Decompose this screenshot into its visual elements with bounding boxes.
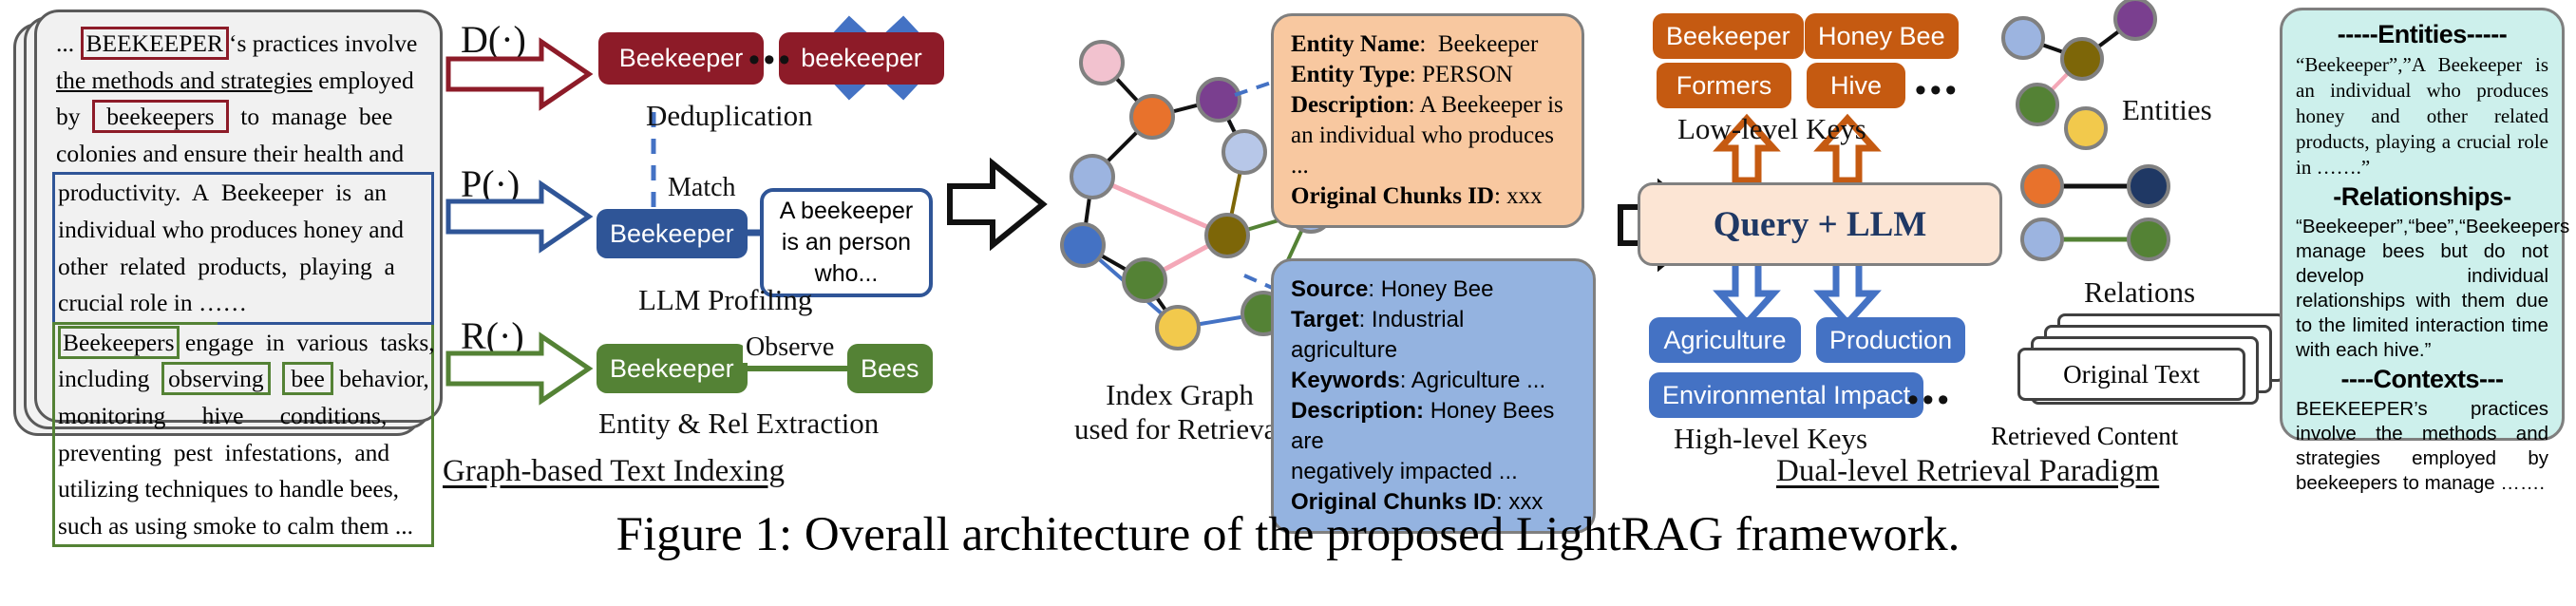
query-llm-box[interactable]: Query + LLM: [1638, 182, 2002, 266]
operator-label-dedup: D(·): [461, 17, 526, 62]
ellipsis-prefix: ...: [56, 29, 81, 57]
highlight-beekeepers-2: Beekeepers: [58, 326, 180, 359]
operator-label-extract: R(·): [461, 313, 524, 358]
low-level-key-0[interactable]: Beekeeper: [1653, 13, 1804, 59]
highlight-beekeepers: beekeepers: [92, 100, 228, 133]
high-level-key-1[interactable]: Production: [1816, 317, 1965, 363]
original-text-label: Original Text: [2063, 360, 2200, 389]
entities-section-body: “Beekeeper”,”A Beekeeper is an individua…: [2296, 52, 2548, 180]
node-beekeeper-profile[interactable]: Beekeeper: [597, 209, 748, 258]
dedup-ellipsis-overlay: •••: [748, 44, 794, 76]
highlight-observing: observing: [161, 362, 271, 395]
relationships-section-header: -Relationships-: [2296, 182, 2548, 212]
high-level-keys-ellipsis: •••: [1907, 384, 1953, 416]
source-chunk-stack: ... BEEKEEPER‘s practices involve the me…: [13, 9, 446, 442]
highlight-bee: bee: [282, 362, 332, 395]
section-label-graph-indexing: Graph-based Text Indexing: [443, 454, 785, 489]
stage-label-deduplication: Deduplication: [646, 99, 813, 133]
text-line-4: colonies and ensure their health and: [56, 136, 428, 173]
node-beekeeper-dedup[interactable]: Beekeeper: [598, 32, 764, 85]
text-line-2: the methods and strategies employed: [56, 63, 428, 100]
retrieved-content-label: Retrieved Content: [1991, 422, 2178, 451]
entities-section-header: -----Entities-----: [2296, 20, 2548, 49]
low-level-keys-title: Low-level Keys: [1677, 112, 1866, 146]
section-label-dual-level-retrieval: Dual-level Retrieval Paradigm: [1776, 454, 2159, 489]
original-text-card-front: Original Text: [2017, 348, 2245, 401]
node-beekeeper-duplicate[interactable]: beekeeper: [779, 32, 944, 85]
entities-label: Entities: [2122, 93, 2212, 127]
text-seg-by: by: [56, 103, 92, 130]
arrow-to-graph: [950, 163, 1043, 245]
low-level-key-1[interactable]: Honey Bee: [1805, 13, 1959, 59]
operator-label-profile: P(·): [461, 161, 520, 206]
low-level-key-3[interactable]: Hive: [1807, 63, 1905, 108]
source-chunk-text: ... BEEKEEPER‘s practices involve the me…: [56, 26, 428, 547]
contexts-section-body: BEEKEEPER’s practices involve the method…: [2296, 397, 2548, 496]
figure-caption: Figure 1: Overall architecture of the pr…: [0, 507, 2576, 562]
relations-minilist: [2022, 166, 2169, 259]
relation-info-card: Source: Honey Bee Target: Industrial agr…: [1271, 258, 1596, 534]
text-seg-1: ‘s practices involve: [229, 29, 417, 57]
retrieval-result-panel: -----Entities----- “Beekeeper”,”A Beekee…: [2280, 8, 2565, 441]
arrow-down-highlevel-2: [1821, 261, 1874, 323]
relationships-section-body: “Beekeeper”,“bee”,“Beekeepers manage bee…: [2296, 215, 2548, 363]
highlight-beekeeper-caps: BEEKEEPER: [81, 27, 230, 60]
node-bees[interactable]: Bees: [847, 344, 933, 393]
figure-canvas: ... BEEKEEPER‘s practices involve the me…: [0, 0, 2576, 606]
node-beekeeper-extract[interactable]: Beekeeper: [597, 344, 748, 393]
stage-label-llm-profiling: LLM Profiling: [638, 283, 812, 317]
entity-info-card: Entity Name: Beekeeper Entity Type: PERS…: [1271, 13, 1584, 228]
high-level-keys-title: High-level Keys: [1674, 422, 1867, 456]
low-level-key-2[interactable]: Formers: [1657, 63, 1791, 108]
low-level-keys-ellipsis: •••: [1915, 74, 1960, 106]
profile-description-box: A beekeeper is an person who...: [760, 188, 933, 297]
arrow-down-highlevel-1: [1720, 261, 1773, 323]
retrieved-content-stack: Original Text: [2017, 313, 2302, 424]
high-level-key-0[interactable]: Agriculture: [1649, 317, 1801, 363]
relation-label-observe: Observe: [743, 332, 837, 363]
high-level-key-2[interactable]: Environmental Impact: [1649, 372, 1923, 418]
highlight-block-blue: productivity. A Beekeeper is an individu…: [52, 172, 434, 324]
relations-label: Relations: [2084, 275, 2195, 310]
contexts-section-header: ----Contexts---: [2296, 365, 2548, 394]
chunk-card-front: ... BEEKEEPER‘s practices involve the me…: [34, 9, 443, 423]
text-seg-to: to manage bee: [229, 103, 393, 130]
stage-label-entity-rel-extraction: Entity & Rel Extraction: [598, 407, 879, 441]
match-label: Match: [665, 173, 739, 203]
